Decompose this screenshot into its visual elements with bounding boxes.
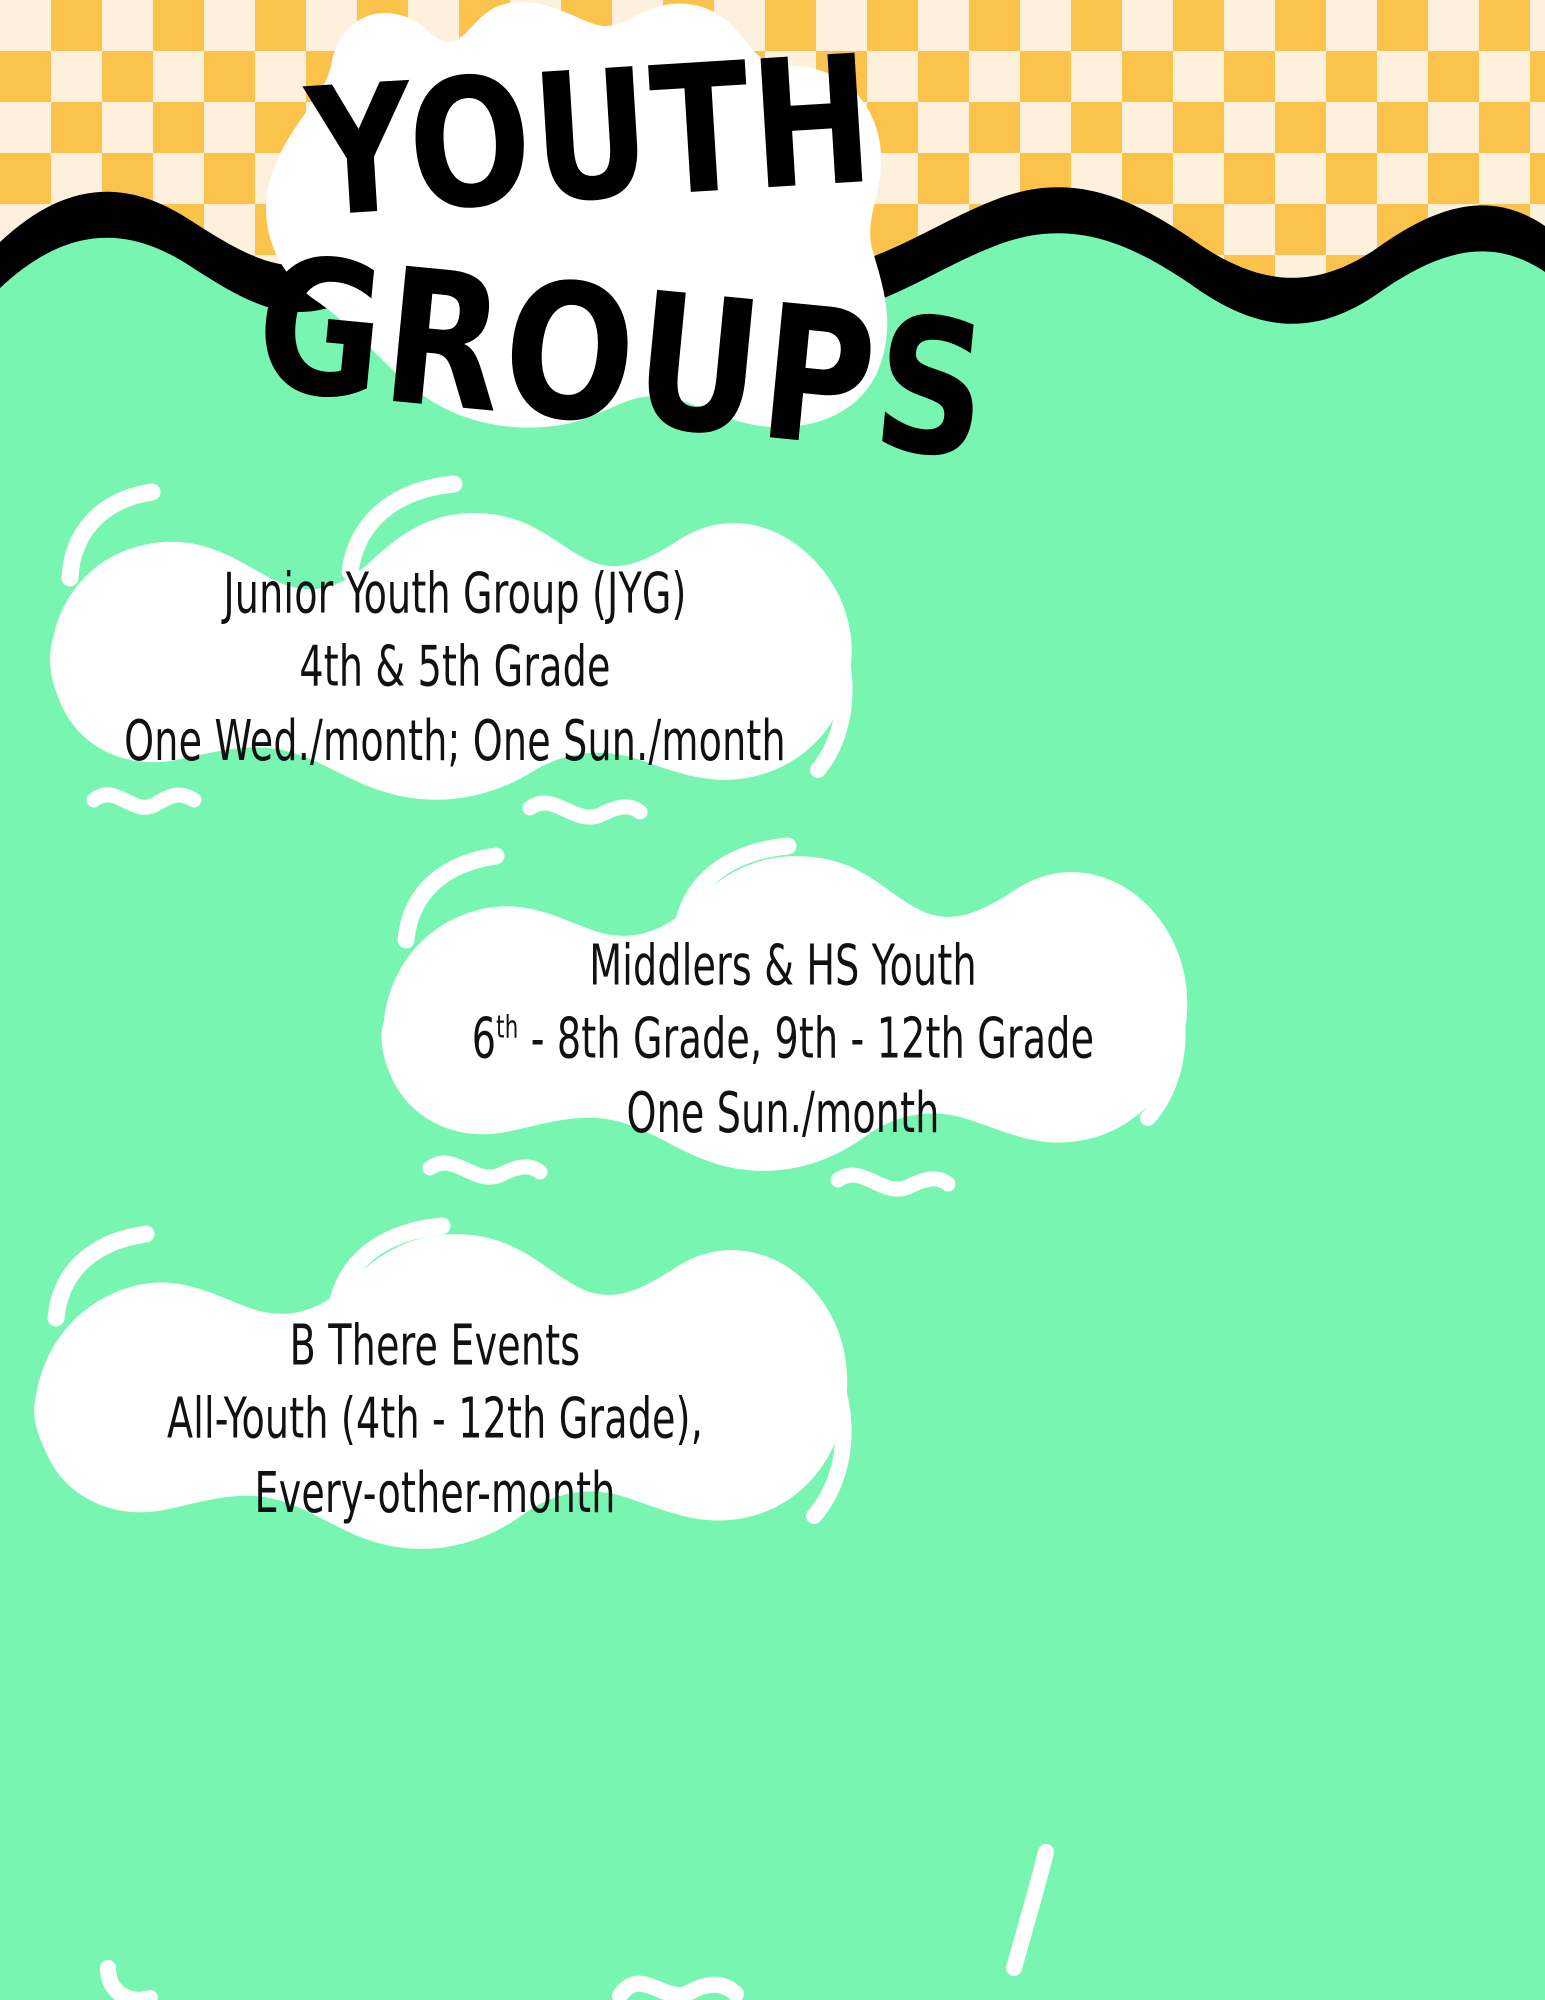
- group-2-line-2-superscript: th: [496, 1010, 518, 1046]
- group-1-line-3: One Wed./month; One Sun./month: [84, 704, 827, 778]
- accent-stroke-hook-bottom-left: [94, 1960, 174, 2000]
- group-3-text: B There Events All-Youth (4th - 12th Gra…: [64, 1309, 807, 1530]
- poster-canvas: YOUTH GROUPS Junior Youth Group (JYG) 4t…: [0, 0, 1545, 2000]
- group-2-line-2: 6th - 8th Grade, 9th - 12th Grade: [412, 1002, 1155, 1076]
- group-3-line-2: All-Youth (4th - 12th Grade),: [64, 1382, 807, 1456]
- group-2-line-2-pre: 6: [472, 1006, 496, 1072]
- group-3-line-1: B There Events: [64, 1309, 807, 1383]
- accent-stroke-slash-bottom: [1000, 1840, 1070, 1980]
- accent-stroke-squiggle-bottom: [608, 1962, 748, 2000]
- group-2-line-2-post: - 8th Grade, 9th - 12th Grade: [518, 1006, 1094, 1072]
- group-1-line-1: Junior Youth Group (JYG): [84, 557, 827, 631]
- group-2-line-3: One Sun./month: [412, 1076, 1155, 1150]
- group-3-line-3: Every-other-month: [64, 1456, 807, 1530]
- title-blob-shape: [195, 0, 995, 440]
- group-1-text: Junior Youth Group (JYG) 4th & 5th Grade…: [84, 557, 827, 778]
- group-2-text: Middlers & HS Youth 6th - 8th Grade, 9th…: [412, 929, 1155, 1150]
- group-2-line-1: Middlers & HS Youth: [412, 929, 1155, 1003]
- group-1-line-2: 4th & 5th Grade: [84, 630, 827, 704]
